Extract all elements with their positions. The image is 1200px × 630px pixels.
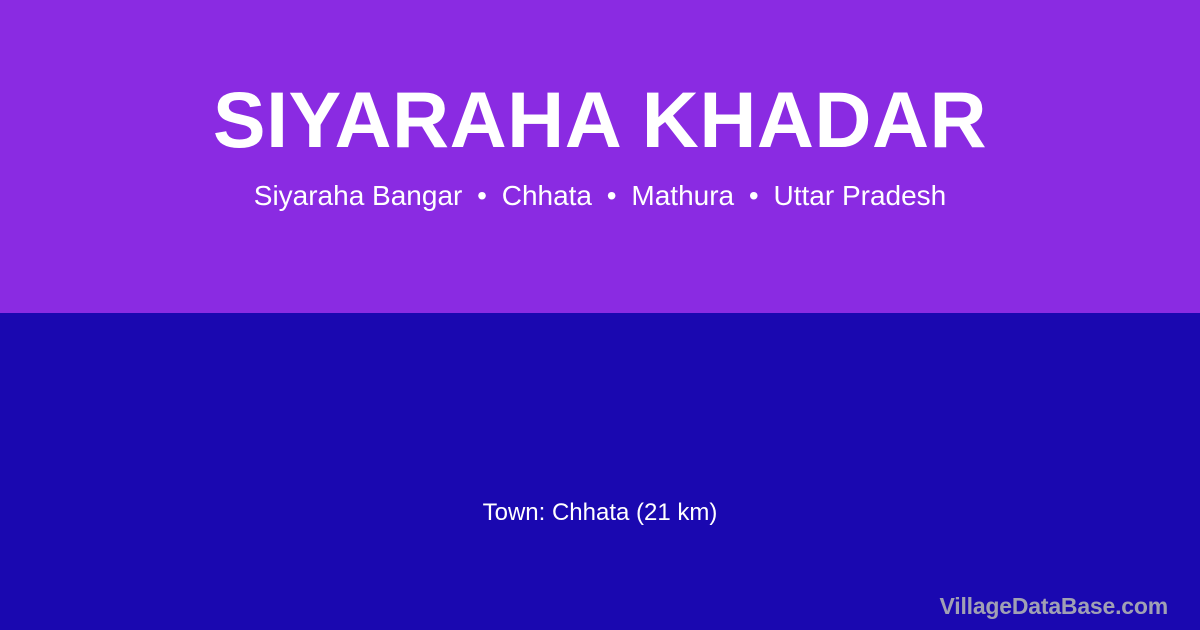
breadcrumb-item-village: Siyaraha Bangar <box>254 180 463 211</box>
breadcrumb-separator: • <box>742 181 766 212</box>
hero-banner: SIYARAHA KHADAR Siyaraha Bangar • Chhata… <box>0 0 1200 313</box>
info-panel: Town: Chhata (21 km) VillageDataBase.com <box>0 313 1200 630</box>
breadcrumb: Siyaraha Bangar • Chhata • Mathura • Utt… <box>254 181 946 212</box>
site-brand: VillageDataBase.com <box>940 593 1168 621</box>
breadcrumb-item-state: Uttar Pradesh <box>773 180 946 211</box>
breadcrumb-separator: • <box>470 181 494 212</box>
breadcrumb-separator: • <box>600 181 624 212</box>
page-title: SIYARAHA KHADAR <box>213 80 987 159</box>
village-info-card: SIYARAHA KHADAR Siyaraha Bangar • Chhata… <box>0 0 1200 630</box>
breadcrumb-item-district: Mathura <box>631 180 734 211</box>
breadcrumb-item-block: Chhata <box>502 180 592 211</box>
nearest-town-detail: Town: Chhata (21 km) <box>0 499 1200 528</box>
